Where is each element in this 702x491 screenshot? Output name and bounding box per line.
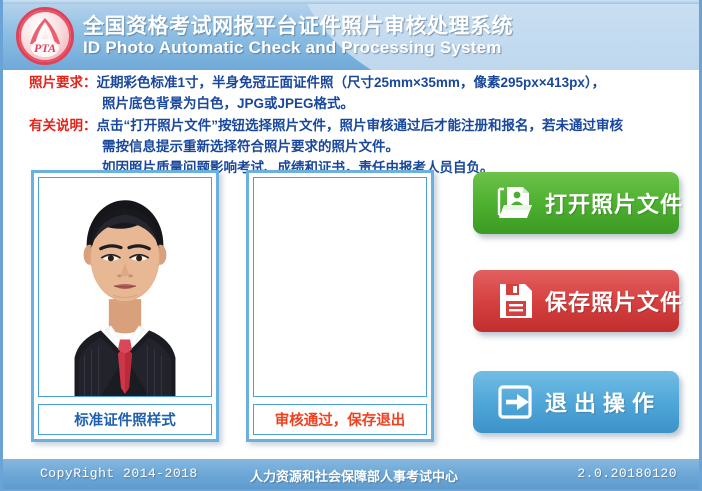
open-photo-file-button[interactable]: 打开照片文件 bbox=[473, 172, 679, 234]
result-photo-panel[interactable]: 审核通过，保存退出 bbox=[246, 170, 434, 442]
photo-requirements-label: 照片要求： bbox=[29, 75, 97, 90]
pta-logo-mark: PTA bbox=[19, 10, 71, 62]
save-photo-file-button[interactable]: 保存照片文件 bbox=[473, 270, 679, 332]
application-window: PTA 全国资格考试网报平台证件照片审核处理系统 ID Photo Automa… bbox=[0, 0, 702, 491]
pta-logo: PTA bbox=[16, 7, 74, 65]
app-footer: CopyRight 2014-2018 人力资源和社会保障部人事考试中心 2.0… bbox=[3, 457, 702, 489]
svg-text:PTA: PTA bbox=[34, 41, 56, 55]
instructions-line-1: 有关说明：点击“打开照片文件”按钮选择照片文件，照片审核通过后才能注册和报名，若… bbox=[29, 119, 623, 133]
sample-photo-panel: 标准证件照样式 bbox=[31, 170, 219, 442]
instructions-text-2: 需按信息提示重新选择符合照片要求的照片文件。 bbox=[102, 140, 399, 154]
notice-block: 照片要求：近期彩色标准1寸，半身免冠正面证件照（尺寸25mm×35mm，像素29… bbox=[3, 70, 702, 162]
photo-requirements-text-2: 照片底色背景为白色，JPG或JPEG格式。 bbox=[102, 97, 354, 111]
app-title-english: ID Photo Automatic Check and Processing … bbox=[83, 38, 502, 58]
result-status-message: 审核通过，保存退出 bbox=[253, 404, 427, 435]
sample-portrait-image bbox=[39, 178, 211, 396]
instructions-text-1: 点击“打开照片文件”按钮选择照片文件，照片审核通过后才能注册和报名，若未通过审核 bbox=[97, 118, 624, 133]
instructions-label: 有关说明： bbox=[29, 118, 97, 133]
photo-requirements-text-1: 近期彩色标准1寸，半身免冠正面证件照（尺寸25mm×35mm，像素295px×4… bbox=[97, 75, 606, 90]
header-top-highlight bbox=[3, 0, 702, 4]
app-title-chinese: 全国资格考试网报平台证件照片审核处理系统 bbox=[83, 10, 513, 40]
exit-arrow-icon bbox=[487, 383, 545, 421]
exit-button-label: 退出操作 bbox=[545, 386, 661, 418]
open-folder-photo-icon bbox=[487, 185, 545, 221]
open-photo-file-label: 打开照片文件 bbox=[545, 187, 683, 219]
result-photo-frame[interactable] bbox=[253, 177, 427, 397]
photo-requirements-line-1: 照片要求：近期彩色标准1寸，半身免冠正面证件照（尺寸25mm×35mm，像素29… bbox=[29, 76, 605, 90]
floppy-disk-save-icon bbox=[487, 282, 545, 320]
sample-photo-frame bbox=[38, 177, 212, 397]
exit-button[interactable]: 退出操作 bbox=[473, 371, 679, 433]
save-photo-file-label: 保存照片文件 bbox=[545, 285, 683, 317]
app-header: PTA 全国资格考试网报平台证件照片审核处理系统 ID Photo Automa… bbox=[3, 0, 702, 70]
footer-version: 2.0.20180120 bbox=[577, 466, 677, 481]
sample-photo-caption: 标准证件照样式 bbox=[38, 404, 212, 435]
